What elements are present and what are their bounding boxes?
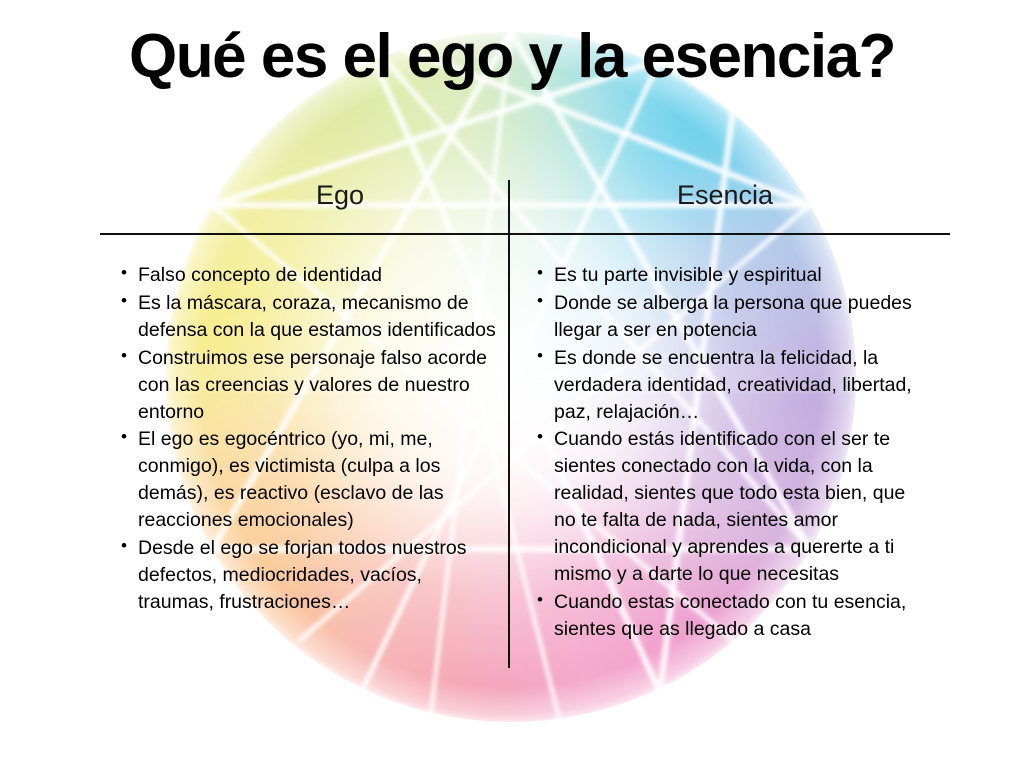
bullet-list-esencia: Es tu parte invisible y espiritual Donde… [532, 262, 916, 643]
bullet-list-ego: Falso concepto de identidad Es la máscar… [116, 262, 498, 616]
column-header-esencia: Esencia [560, 180, 890, 211]
page-title: Qué es el ego y la esencia? [0, 24, 1024, 89]
vertical-rule [508, 180, 510, 668]
list-item: Es la máscara, coraza, mecanismo de defe… [138, 290, 498, 344]
list-item: Desde el ego se forjan todos nuestros de… [138, 535, 498, 616]
list-item: Es donde se encuentra la felicidad, la v… [554, 345, 916, 426]
list-item: Construimos ese personaje falso acorde c… [138, 345, 498, 426]
column-ego: Falso concepto de identidad Es la máscar… [116, 262, 498, 617]
list-item: Donde se alberga la persona que puedes l… [554, 290, 916, 344]
list-item: El ego es egocéntrico (yo, mi, me, conmi… [138, 426, 498, 534]
horizontal-rule [100, 233, 950, 235]
column-header-ego: Ego [180, 180, 500, 211]
list-item: Cuando estás identificado con el ser te … [554, 426, 916, 587]
list-item: Cuando estas conectado con tu esencia, s… [554, 589, 916, 643]
slide-canvas: Qué es el ego y la esencia? Ego Esencia … [0, 0, 1024, 768]
list-item: Falso concepto de identidad [138, 262, 498, 289]
column-esencia: Es tu parte invisible y espiritual Donde… [532, 262, 916, 644]
list-item: Es tu parte invisible y espiritual [554, 262, 916, 289]
